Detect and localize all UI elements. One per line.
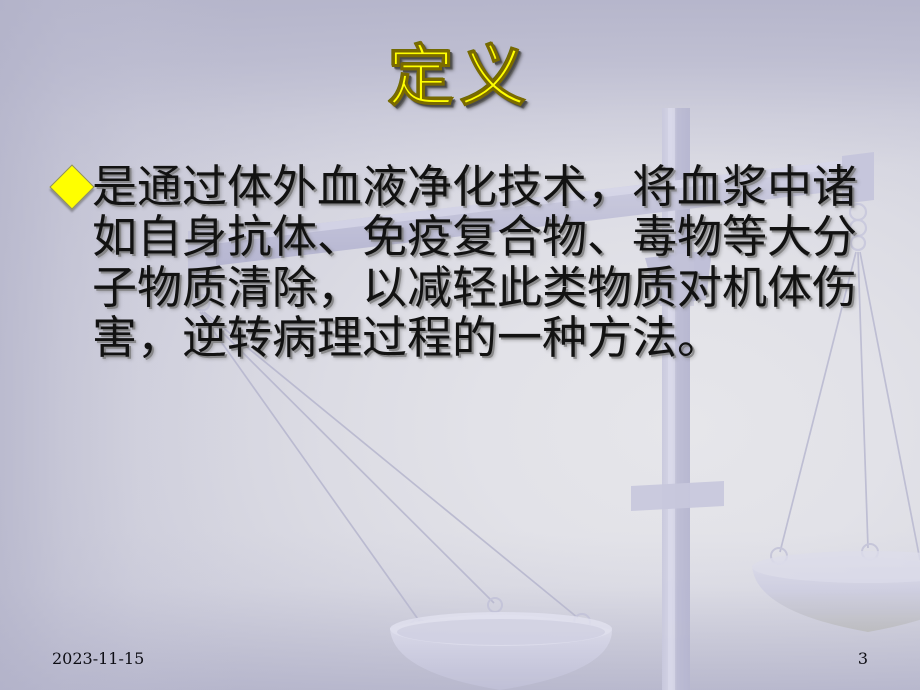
slide-title-container: 定义	[0, 44, 920, 110]
footer-date: 2023-11-15	[52, 649, 144, 668]
page-title: 定义	[388, 44, 532, 110]
slide-body: 是通过体外血液净化技术，将血浆中诸如自身抗体、免疫复合物、毒物等大分子物质清除，…	[48, 162, 888, 364]
bullet-item-text: 是通过体外血液净化技术，将血浆中诸如自身抗体、免疫复合物、毒物等大分子物质清除，…	[92, 162, 888, 364]
bullet-list-item: 是通过体外血液净化技术，将血浆中诸如自身抗体、免疫复合物、毒物等大分子物质清除，…	[48, 162, 888, 364]
diamond-bullet-icon	[49, 164, 94, 209]
slide: 定义 是通过体外血液净化技术，将血浆中诸如自身抗体、免疫复合物、毒物等大分子物质…	[0, 0, 920, 690]
footer-page-number: 3	[858, 649, 868, 668]
